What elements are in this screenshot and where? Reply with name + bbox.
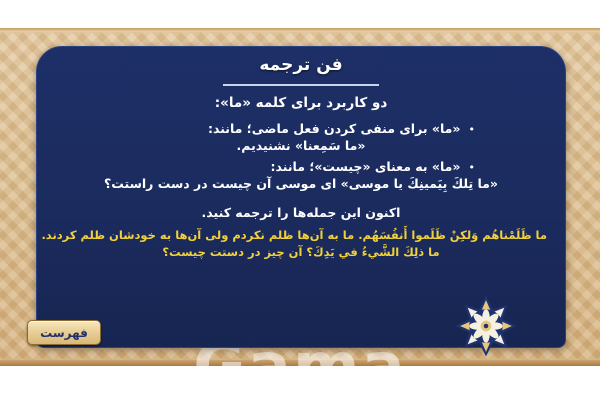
background-top-edge xyxy=(0,28,600,32)
highlighted-sentence: ما ظَلَمْناهُم وَلكِنْ ظَلَموا أَنفُسَهُ… xyxy=(55,228,547,242)
highlighted-sentence: ما ذلِكَ الشَّيءُ في يَدِكَ؟ آن چیز در د… xyxy=(55,245,547,259)
bullet-dot-icon: • xyxy=(469,162,476,173)
slide-title: فن ترجمه xyxy=(37,55,565,75)
bullet-example: «ما تِلكَ بِيَمينِكَ یا موسی» ای موسی آن… xyxy=(55,176,547,191)
title-divider xyxy=(223,84,379,86)
bullet-text: «ما» به معنای «چیست»؛ مانند: xyxy=(271,159,461,174)
bullet-example: «ما سَمِعنا» نشنیدیم. xyxy=(55,138,547,153)
slide-subtitle: دو کاربرد برای کلمه «ما»: xyxy=(37,95,565,111)
bullet-dot-icon: • xyxy=(469,124,476,135)
index-button-label: فهرست xyxy=(40,326,88,340)
islamic-rosette-ornament-icon xyxy=(448,288,524,364)
list-item: • «ما» به معنای «چیست»؛ مانند: xyxy=(55,159,547,174)
list-item: • «ما» برای منفی کردن فعل ماضی؛ مانند: xyxy=(55,121,547,136)
instruction-text: اکنون این جمله‌ها را ترجمه کنید. xyxy=(55,205,547,220)
index-button[interactable]: فهرست xyxy=(27,320,101,345)
watermark-band xyxy=(0,366,600,400)
slide-body: • «ما» برای منفی کردن فعل ماضی؛ مانند: «… xyxy=(55,121,547,262)
slide-canvas: Gama فن ترجمه دو کاربرد برای کلمه «ما»: … xyxy=(0,0,600,400)
bullet-text: «ما» برای منفی کردن فعل ماضی؛ مانند: xyxy=(208,121,461,136)
